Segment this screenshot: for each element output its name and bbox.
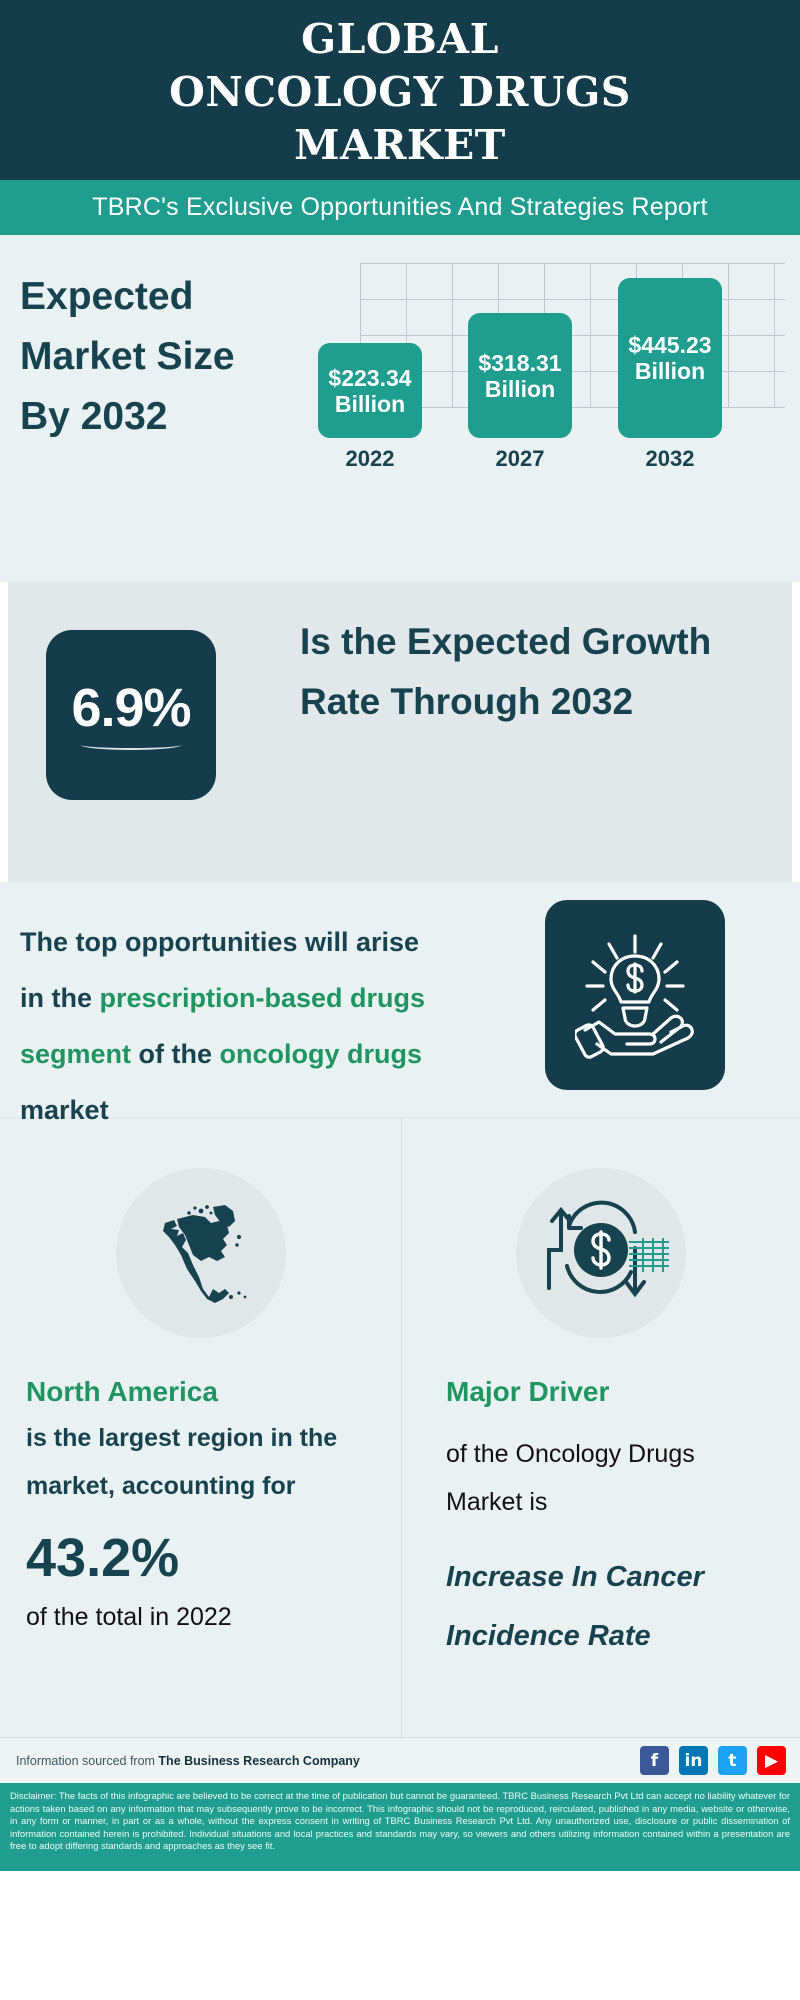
youtube-icon[interactable]: ▶	[757, 1746, 786, 1775]
source-prefix: Information sourced from	[16, 1754, 158, 1768]
dollar-growth-cycle-icon	[531, 1188, 671, 1318]
opportunity-icon-box	[545, 900, 725, 1090]
social-links[interactable]: f in t ▶	[640, 1746, 786, 1775]
title-line-1: GLOBAL	[169, 13, 631, 66]
page-title: GLOBAL ONCOLOGY DRUGS MARKET	[169, 13, 631, 172]
region-share-caption: of the total in 2022	[26, 1600, 375, 1634]
twitter-icon[interactable]: t	[718, 1746, 747, 1775]
opportunity-highlight-2: oncology drugs	[220, 1039, 423, 1069]
opportunity-part-2: of the	[131, 1039, 220, 1069]
region-icon-circle	[116, 1168, 286, 1338]
hand-holding-lightbulb-dollar-icon	[575, 930, 695, 1060]
market-size-section: Expected Market Size By 2032 $223.34 Bil…	[0, 235, 800, 582]
growth-rate-section: 6.9% Is the Expected Growth Rate Through…	[8, 582, 792, 882]
bar-2022: $223.34 Billion	[318, 343, 422, 438]
facebook-icon[interactable]: f	[640, 1746, 669, 1775]
title-line-3: MARKET	[169, 119, 631, 172]
bottom-columns: North America is the largest region in t…	[0, 1117, 800, 1737]
driver-column: Major Driver of the Oncology Drugs Marke…	[402, 1118, 800, 1737]
market-size-bar-chart: $223.34 Billion $318.31 Billion $445.23 …	[300, 263, 780, 513]
driver-title: Major Driver	[446, 1376, 774, 1408]
header-banner: GLOBAL ONCOLOGY DRUGS MARKET	[0, 0, 800, 180]
region-body-text: is the largest region in the market, acc…	[26, 1414, 375, 1510]
chart-bars: $223.34 Billion $318.31 Billion $445.23 …	[300, 263, 780, 478]
opportunity-section: The top opportunities will arise in the …	[0, 882, 800, 1117]
infographic-page: GLOBAL ONCOLOGY DRUGS MARKET TBRC's Excl…	[0, 0, 800, 2000]
source-text: Information sourced from The Business Re…	[16, 1754, 360, 1768]
linkedin-icon[interactable]: in	[679, 1746, 708, 1775]
cagr-badge: 6.9%	[46, 630, 216, 800]
driver-emphasis: Increase In Cancer Incidence Rate	[446, 1548, 774, 1666]
x-tick-2027: 2027	[468, 446, 572, 472]
subtitle-bar: TBRC's Exclusive Opportunities And Strat…	[0, 180, 800, 235]
source-bar: Information sourced from The Business Re…	[0, 1737, 800, 1783]
cagr-underline-decoration	[81, 740, 181, 750]
market-size-heading: Expected Market Size By 2032	[20, 267, 280, 447]
region-name: North America	[26, 1376, 375, 1408]
bar-2027: $318.31 Billion	[468, 313, 572, 438]
driver-icon-circle	[516, 1168, 686, 1338]
opportunity-text: The top opportunities will arise in the …	[20, 914, 430, 1138]
growth-rate-text: Is the Expected Growth Rate Through 2032	[300, 612, 770, 732]
driver-subtext: of the Oncology Drugs Market is	[446, 1430, 774, 1526]
north-america-map-icon	[141, 1193, 261, 1313]
x-tick-2022: 2022	[318, 446, 422, 472]
region-column: North America is the largest region in t…	[0, 1118, 402, 1737]
disclaimer-text: Disclaimer: The facts of this infographi…	[0, 1783, 800, 1871]
bar-2032: $445.23 Billion	[618, 278, 722, 438]
subtitle-text: TBRC's Exclusive Opportunities And Strat…	[92, 193, 707, 222]
source-company: The Business Research Company	[158, 1754, 359, 1768]
cagr-value: 6.9%	[71, 680, 190, 736]
title-line-2: ONCOLOGY DRUGS	[169, 66, 631, 119]
region-share-value: 43.2%	[26, 1526, 375, 1590]
x-tick-2032: 2032	[618, 446, 722, 472]
